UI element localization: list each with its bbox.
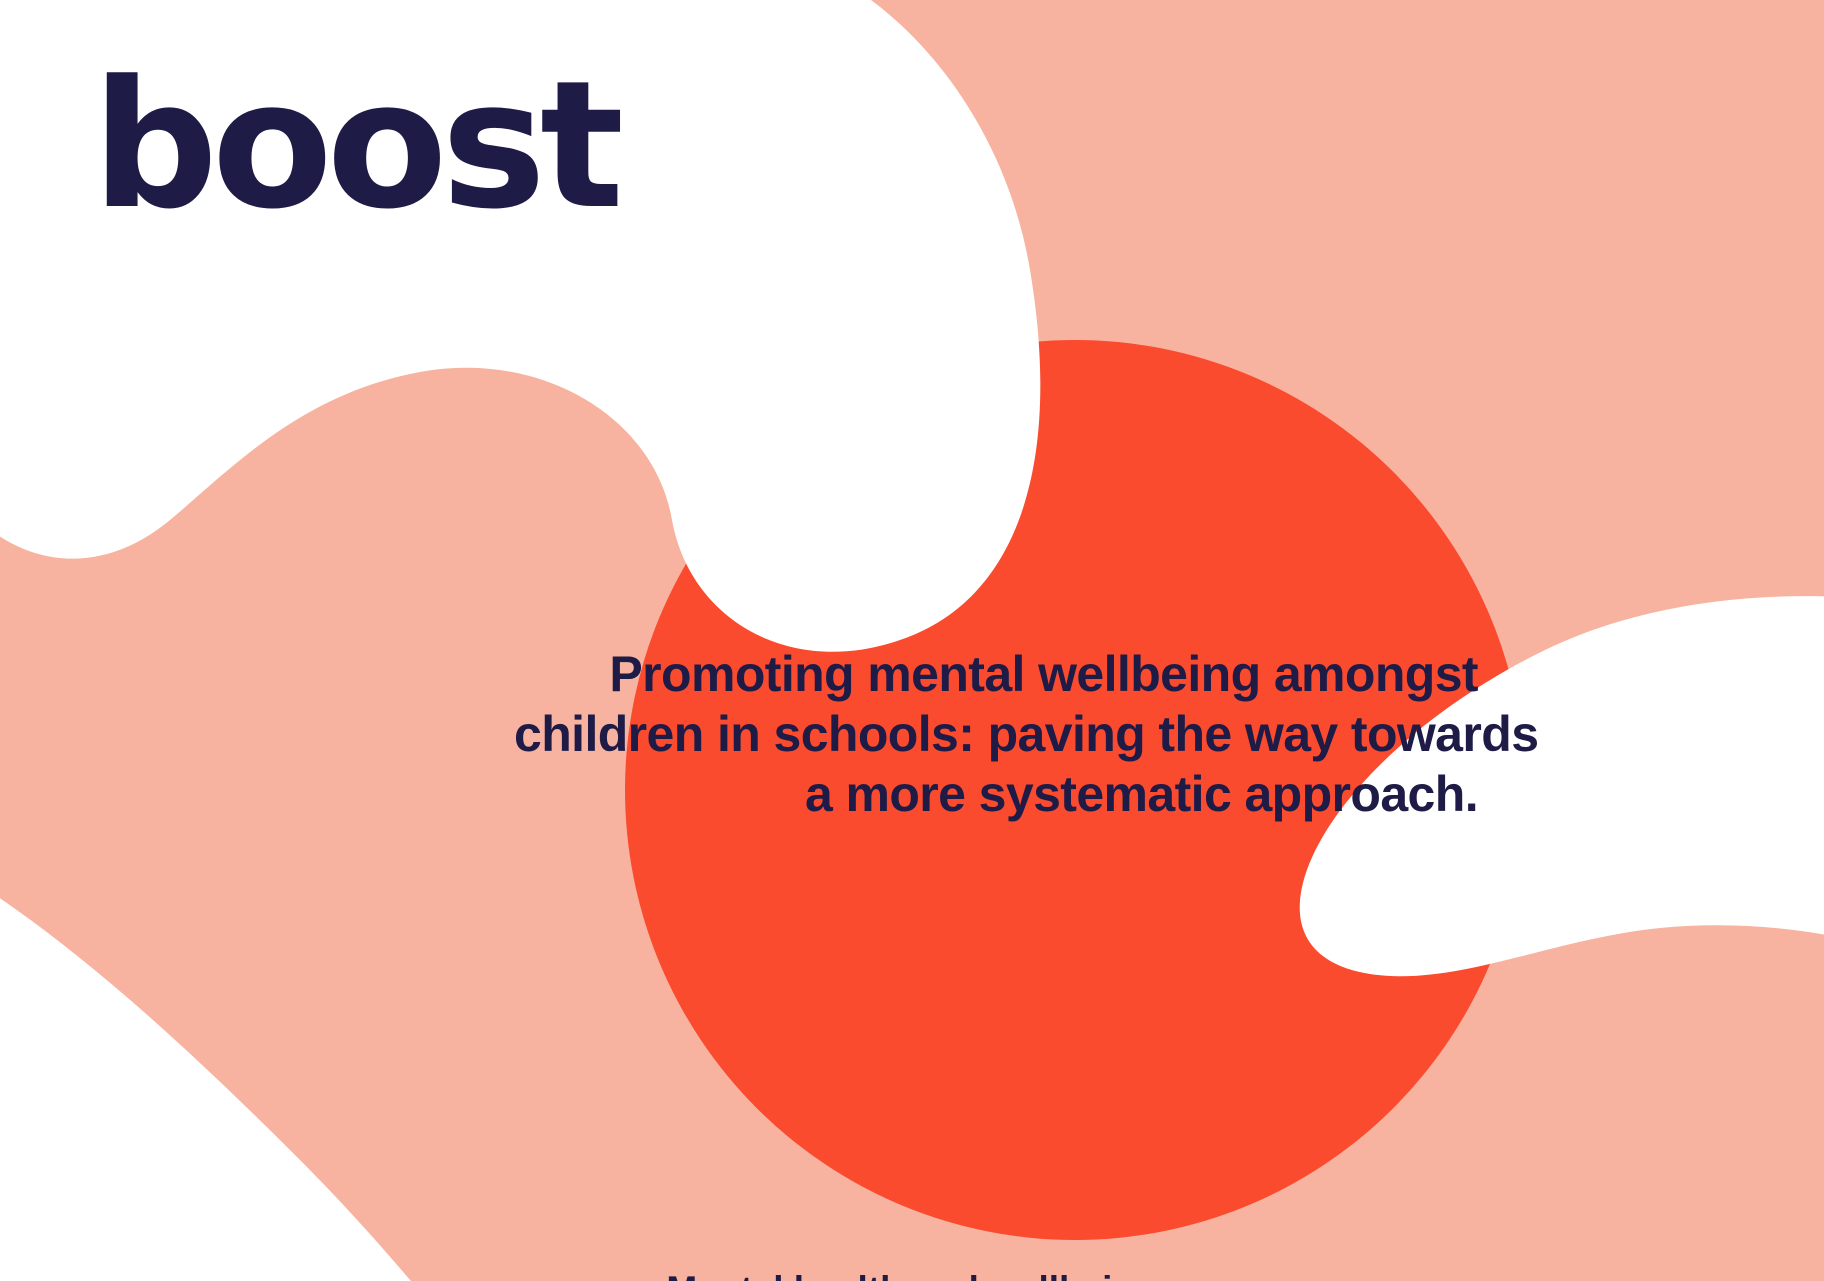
poster-canvas: boost Promoting mental wellbeing amongst… — [0, 0, 1824, 1281]
footer-cropped-strip: Mental health and wellbeing — [0, 1268, 1824, 1281]
title-line-1: Promoting mental wellbeing amongst — [514, 644, 1478, 704]
title-line-3: a more systematic approach. — [514, 764, 1478, 824]
page-title: Promoting mental wellbeing amongst child… — [514, 644, 1478, 824]
footer-cropped-text: Mental health and wellbeing — [0, 1268, 1824, 1281]
title-line-2: children in schools: paving the way towa… — [514, 704, 1478, 764]
boost-logo: boost — [92, 58, 618, 234]
